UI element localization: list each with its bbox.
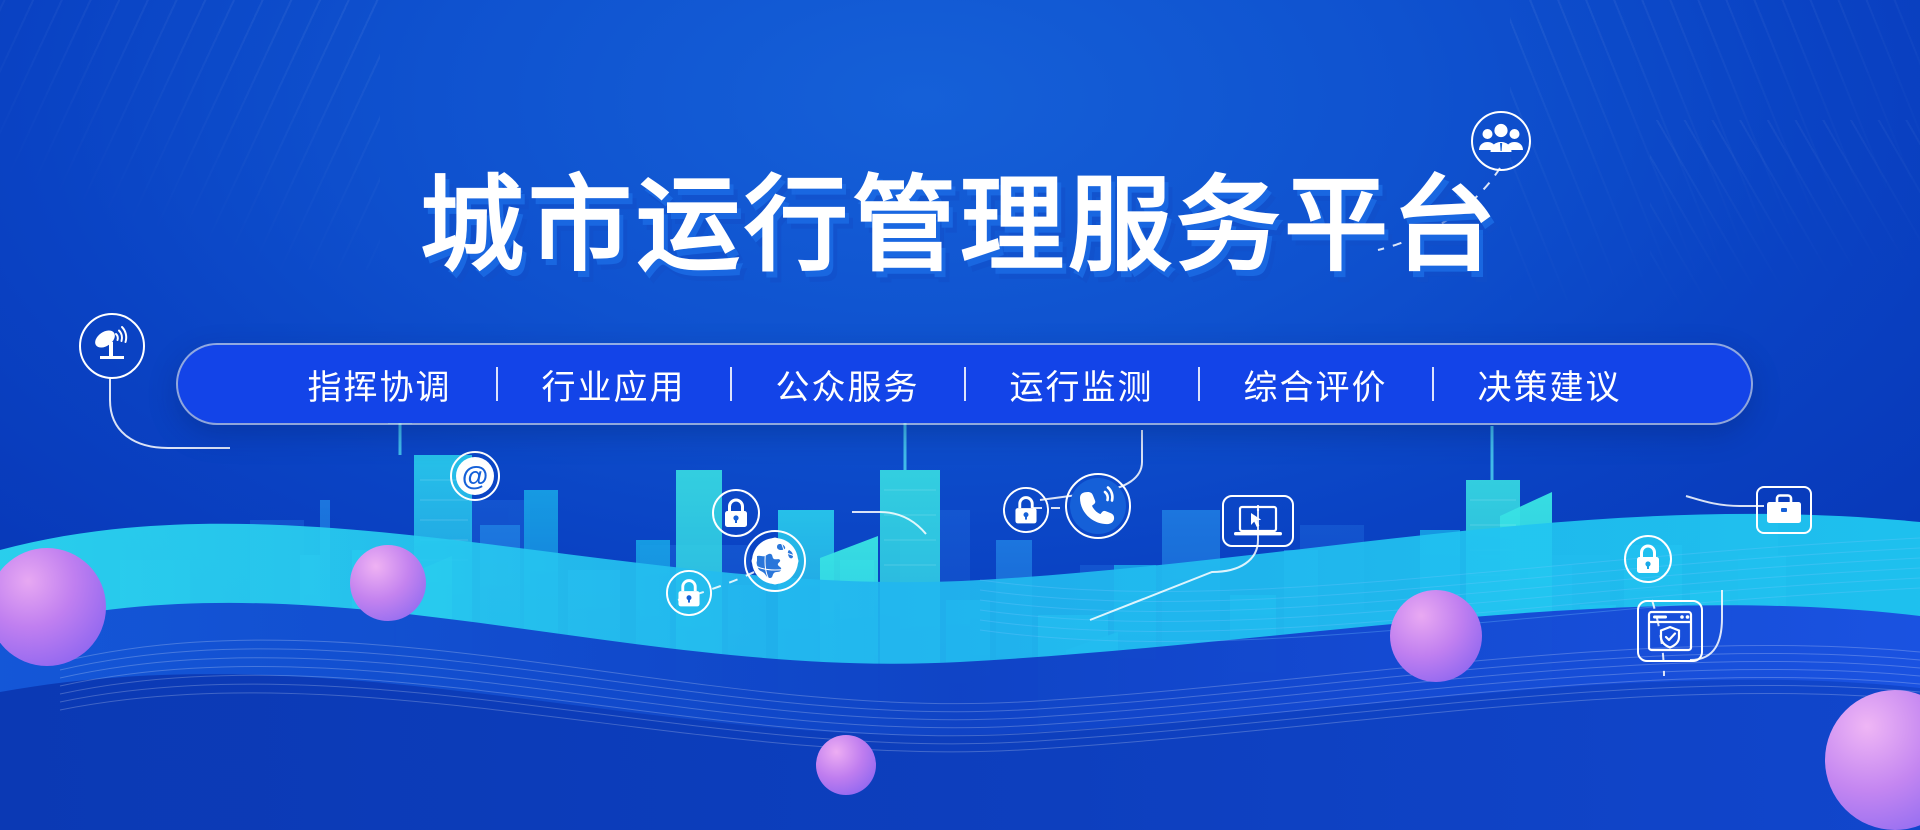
satellite-dish-icon[interactable] (78, 312, 146, 380)
phone-call-icon[interactable] (1064, 472, 1132, 540)
svg-text:@: @ (462, 461, 488, 491)
nav-item-0[interactable]: 指挥协调 (264, 360, 496, 409)
nav-item-4[interactable]: 综合评价 (1200, 360, 1432, 409)
primary-nav-bar: 指挥协调 行业应用 公众服务 运行监测 综合评价 决策建议 (178, 345, 1751, 423)
decorative-sphere-3 (816, 735, 876, 795)
nav-item-3[interactable]: 运行监测 (966, 360, 1198, 409)
people-group-icon[interactable] (1470, 110, 1532, 172)
decorative-waves (0, 430, 1920, 830)
decorative-sphere-4 (1390, 590, 1482, 682)
nav-item-1[interactable]: 行业应用 (498, 360, 730, 409)
decorative-sphere-2 (350, 545, 426, 621)
at-sign-icon[interactable]: @ (450, 451, 500, 501)
nav-item-2[interactable]: 公众服务 (732, 360, 964, 409)
browser-shield-icon[interactable] (1637, 600, 1703, 662)
nav-item-5[interactable]: 决策建议 (1434, 360, 1666, 409)
nav-items-container: 指挥协调 行业应用 公众服务 运行监测 综合评价 决策建议 (264, 360, 1666, 409)
briefcase-icon[interactable] (1756, 486, 1812, 534)
lock-icon-3[interactable] (1003, 487, 1049, 533)
laptop-cursor-icon[interactable] (1222, 495, 1294, 547)
lock-icon-4[interactable] (1624, 535, 1672, 583)
globe-icon[interactable] (744, 530, 806, 592)
page-title: 城市运行管理服务平台 (0, 170, 1920, 282)
city-platform-banner: @ (0, 0, 1920, 830)
lock-icon-2[interactable] (666, 570, 712, 616)
